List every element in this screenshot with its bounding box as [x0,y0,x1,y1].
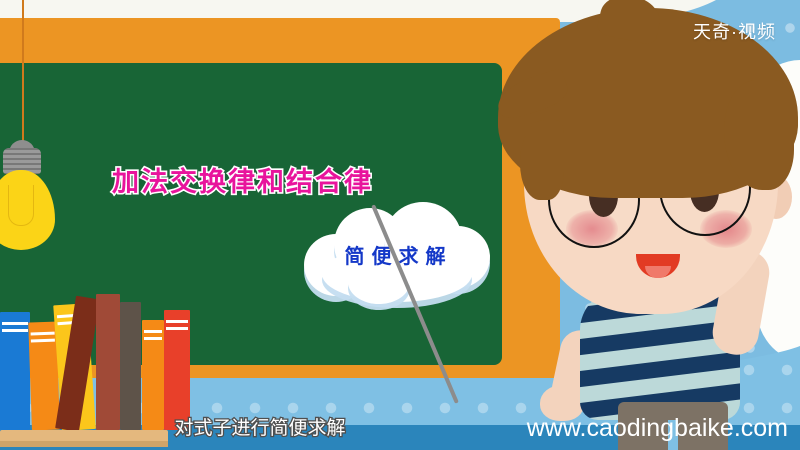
site-url-watermark: www.caodingbaike.com [527,414,788,443]
shirt-stripe [580,347,740,390]
channel-watermark: 天奇·视频 [693,18,776,44]
video-frame: 加法交换律和结合律 简便求解 [0,0,800,450]
subtitle-caption: 对式子进行简便求解 [0,413,520,440]
boy-hair-sideburn-left [520,120,564,200]
boy-character [0,0,800,450]
